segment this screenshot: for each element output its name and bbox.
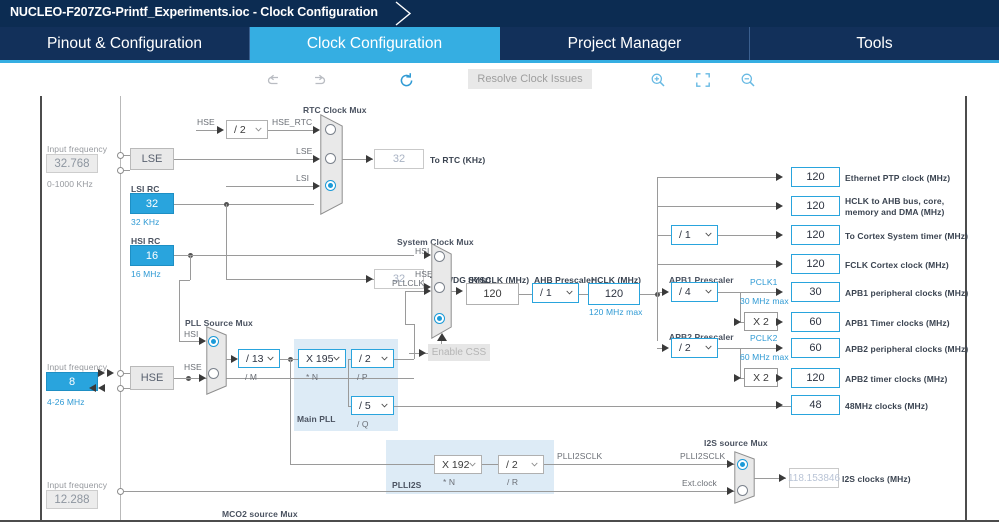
rtc-mux-option-hse-rtc[interactable]: [325, 124, 336, 135]
output-hclk-ahb-label: HCLK to AHB bus, core, memory and DMA (M…: [845, 196, 944, 218]
hse-input-range: 4-26 MHz: [47, 397, 85, 407]
arrow-out-48mhz: [776, 401, 783, 409]
arrow-out-apb2-periph: [776, 344, 783, 352]
clock-configuration-window: NUCLEO-F207ZG-Printf_Experiments.ioc - C…: [0, 0, 999, 526]
wire-lsi-down: [226, 204, 227, 279]
enable-css-button[interactable]: Enable CSS: [428, 344, 490, 361]
plli2s-r-value: / 2: [499, 459, 518, 471]
canvas-left-border: [40, 96, 42, 520]
wire-hsi-down-2: [179, 280, 180, 341]
resolve-label: Resolve Clock Issues: [477, 73, 582, 85]
hse-oscillator-box[interactable]: HSE: [130, 366, 174, 390]
rtc-lsi-label: LSI: [296, 173, 309, 183]
canvas-bottom-border: [0, 520, 999, 522]
lsi-rc-value: 32: [146, 198, 158, 210]
output-cortex-systimer-field: 120: [791, 225, 840, 245]
wire-p-jog: [405, 324, 415, 325]
pll-q-label: / Q: [357, 419, 369, 429]
pll-m-divider-combo[interactable]: / 13: [238, 349, 280, 368]
cortex-prescaler-value: / 1: [672, 229, 691, 241]
rtc-hse-label: HSE: [197, 117, 215, 127]
arrow-apb1-mul: [734, 318, 741, 326]
rtc-hse-divider-combo[interactable]: / 2: [226, 120, 268, 139]
hclk-max: 120 MHz max: [589, 307, 643, 317]
breadcrumb-chevron-icon: [394, 0, 424, 27]
wire-pclk1: [740, 292, 777, 293]
arrow-apb2-mul: [734, 374, 741, 382]
chevron-down-icon: [705, 288, 712, 295]
chevron-down-icon: [705, 231, 712, 238]
wire-sysclk-to-ahb: [519, 294, 533, 295]
plli2s-r-divider-combo[interactable]: / 2: [498, 455, 544, 474]
pll-p-value: / 2: [352, 353, 371, 365]
apb1-timer-multiplier: X 2: [744, 312, 778, 331]
wire-out-ahb: [657, 206, 777, 207]
output-apb2-peripheral-label: APB2 peripheral clocks (MHz): [845, 344, 968, 354]
cortex-systimer-prescaler-combo[interactable]: / 1: [671, 225, 718, 245]
mco2-source-mux-label: MCO2 source Mux: [222, 509, 298, 519]
arrow-sysmux-in0: [424, 251, 431, 259]
arrow-to-sysclk: [456, 287, 463, 295]
undo-icon[interactable]: [264, 70, 284, 90]
output-value: 60: [809, 316, 821, 328]
plli2s-n-value: X 192: [435, 459, 469, 471]
pll-q-divider-combo[interactable]: / 5: [351, 396, 394, 415]
pclk1-label: PCLK1: [750, 277, 777, 287]
wire-out-ethernet: [657, 177, 777, 178]
output-cortex-systimer-label: To Cortex System timer (MHz): [845, 231, 968, 241]
chevron-down-icon: [381, 402, 388, 409]
chevron-down-icon: [381, 355, 388, 362]
output-48mhz-field: 48: [791, 395, 840, 415]
lse-input-caption: Input frequency: [47, 144, 107, 154]
i2s-source-option-plli2sclk[interactable]: [737, 459, 748, 470]
arrow-hse-div2: [217, 126, 224, 134]
canvas-right-border: [965, 96, 967, 520]
title-bar: NUCLEO-F207ZG-Printf_Experiments.ioc - C…: [0, 0, 999, 27]
arrow-rtcmux-in0: [313, 126, 320, 134]
main-pll-title: Main PLL: [297, 414, 336, 424]
wire-plli2sclk: [544, 464, 735, 465]
arrow-pllmux-in0: [199, 337, 206, 345]
output-i2s-clocks-field: 118.153846: [789, 468, 839, 488]
arrow-out-apb1-timer: [776, 318, 783, 326]
output-apb1-peripheral-label: APB1 peripheral clocks (MHz): [845, 288, 968, 298]
enable-css-label: Enable CSS: [432, 347, 486, 358]
output-i2s-value: 118.153846: [788, 473, 840, 484]
output-value: 48: [809, 399, 821, 411]
pll-p-label: / P: [357, 372, 368, 382]
chevron-down-icon: [333, 355, 340, 362]
wire-hsi-jog: [179, 280, 190, 281]
wire-m-down-to-plli2s: [290, 359, 291, 464]
hse-input-value: 8: [69, 376, 75, 388]
output-ethernet-ptp-label: Ethernet PTP clock (MHz): [845, 173, 950, 183]
output-fclk-field: 120: [791, 254, 840, 274]
tab-label: Clock Configuration: [307, 35, 442, 53]
wire-n-branch-down: [348, 359, 349, 406]
fit-to-screen-icon[interactable]: [693, 70, 713, 90]
arrow-css-up: [436, 333, 448, 341]
wire-lse-to-rtcmux: [174, 159, 314, 160]
lse-connector-top: [117, 152, 124, 159]
system-clock-option-hsi[interactable]: [434, 251, 445, 262]
pll-m-value: / 13: [239, 353, 264, 365]
i2smux-plli2sclk-label: PLLI2SCLK: [680, 451, 725, 461]
chevron-down-icon: [531, 461, 538, 468]
pll-src-hsi-label: HSI: [184, 329, 198, 339]
output-value: 120: [806, 229, 824, 241]
output-value: 120: [806, 258, 824, 270]
arrow-pllmux-in1: [199, 374, 206, 382]
wire-p-out: [394, 359, 414, 360]
output-value: 60: [809, 342, 821, 354]
pclk2-label: PCLK2: [750, 333, 777, 343]
arrow-out-ahb: [776, 202, 783, 210]
wire-div2-to-rtcmux: [268, 130, 314, 131]
hse-in-arrow-1: [98, 369, 105, 377]
arrow-out-cortex: [776, 231, 783, 239]
wire-to-plli2s-n: [290, 464, 434, 465]
apb2-timer-multiplier: X 2: [744, 368, 778, 387]
tab-label: Tools: [856, 35, 892, 53]
apb1-prescaler-value: / 4: [672, 286, 691, 298]
tab-label: Pinout & Configuration: [47, 35, 202, 53]
to-rtc-value-field: 32: [374, 149, 424, 169]
system-clock-option-pllclk[interactable]: [434, 313, 445, 324]
system-clock-option-hse[interactable]: [434, 282, 445, 293]
arrow-out-ethernet: [776, 173, 783, 181]
hsi-rc-value: 16: [146, 250, 158, 262]
pllclk-label: PLLCLK: [392, 278, 424, 288]
to-rtc-label: To RTC (KHz): [430, 155, 485, 165]
arrow-i2smux-in0: [727, 460, 734, 468]
pll-p-divider-combo[interactable]: / 2: [351, 349, 394, 368]
hse-in-arrow-2: [107, 369, 114, 377]
wire-hsi-main: [174, 255, 414, 256]
output-apb1-peripheral-field: 30: [791, 282, 840, 302]
canvas-osc-divider: [120, 96, 121, 520]
zoom-out-icon[interactable]: [738, 70, 758, 90]
arrow-out-apb2-timer: [776, 374, 783, 382]
hclk-value-field: 120: [588, 283, 640, 305]
hse-connector-top: [117, 370, 124, 377]
ahb-prescaler-combo[interactable]: / 1: [532, 283, 579, 303]
lse-input-value: 32.768: [54, 158, 89, 170]
arrow-to-pll-m: [231, 355, 238, 363]
output-value: 120: [806, 200, 824, 212]
wire-plli2s-n-to-r: [482, 464, 499, 465]
hse-rtc-label: HSE_RTC: [272, 117, 312, 127]
lsi-rc-value-field[interactable]: 32: [130, 193, 174, 214]
pll-n-multiplier-combo[interactable]: X 195: [298, 349, 346, 368]
arrow-to-rtc: [366, 155, 373, 163]
arrow-apb1-prescaler: [662, 288, 669, 296]
wire-pllclk-right: [405, 291, 425, 292]
wire-pclk2: [740, 348, 777, 349]
hse-out-arrow-1: [98, 384, 105, 392]
output-apb1-timer-label: APB1 Timer clocks (MHz): [845, 318, 950, 328]
output-value: 120: [806, 171, 824, 183]
lse-input-range: 0-1000 KHz: [47, 179, 93, 189]
arrow-out-i2s: [779, 474, 786, 482]
tab-label: Project Manager: [568, 35, 682, 53]
rtc-mux-option-lsi[interactable]: [325, 180, 336, 191]
output-value: 120: [806, 372, 824, 384]
pll-source-option-hse[interactable]: [208, 368, 219, 379]
wire-cortex-pre-in: [657, 235, 672, 236]
arrow-enable-css: [419, 349, 426, 357]
apb2-max: 60 MHz max: [740, 352, 789, 362]
tab-project-manager[interactable]: Project Manager: [500, 27, 750, 60]
pll-m-label: / M: [245, 372, 257, 382]
wire-pllclk-up: [405, 291, 406, 324]
to-rtc-value: 32: [393, 153, 405, 165]
i2s-input-frequency-field[interactable]: 12.288: [46, 490, 98, 509]
wire-lsi-to-iwdg: [226, 279, 376, 280]
wire-cortex-pre-out: [718, 235, 777, 236]
arrow-to-iwdg: [366, 275, 373, 283]
hclk-value: 120: [605, 288, 623, 300]
sysclk-value: 120: [483, 288, 501, 300]
i2s-input-caption: Input frequency: [47, 480, 107, 490]
sysclk-value-field: 120: [466, 283, 519, 305]
pll-q-value: / 5: [352, 400, 371, 412]
chevron-down-icon: [469, 461, 476, 468]
output-apb2-timer-field: 120: [791, 368, 840, 388]
pll-n-label: * N: [306, 372, 318, 382]
rtc-mux-option-lse[interactable]: [325, 153, 336, 164]
output-ethernet-ptp-field: 120: [791, 167, 840, 187]
hse-out-arrow-2: [89, 384, 96, 392]
reset-icon[interactable]: [396, 70, 416, 90]
output-48mhz-label: 48MHz clocks (MHz): [845, 401, 928, 411]
apb2-multiplier-value: X 2: [753, 372, 769, 384]
chevron-down-icon: [566, 289, 573, 296]
resolve-clock-issues-button[interactable]: Resolve Clock Issues: [468, 69, 592, 89]
apb1-prescaler-combo[interactable]: / 4: [671, 282, 718, 302]
arrow-sysmux-in1: [424, 283, 431, 291]
main-tab-bar: Pinout & Configuration Clock Configurati…: [0, 27, 999, 63]
plli2s-n-multiplier-combo[interactable]: X 192: [434, 455, 482, 474]
wire-hsi-down-1: [190, 255, 191, 280]
i2s-ext-connector: [117, 488, 124, 495]
output-fclk-label: FCLK Cortex clock (MHz): [845, 260, 949, 270]
plli2s-r-label: / R: [507, 477, 518, 487]
hse-label: HSE: [141, 372, 164, 384]
apb1-max: 30 MHz max: [740, 296, 789, 306]
wire-hse-to-div2: [196, 130, 218, 131]
chevron-down-icon: [255, 126, 262, 133]
wire-hclk-bus-down: [657, 294, 658, 341]
i2s-input-value: 12.288: [54, 494, 89, 506]
output-value: 30: [809, 286, 821, 298]
output-apb1-timer-field: 60: [791, 312, 840, 332]
lsi-rc-unit: 32 KHz: [131, 217, 159, 227]
wire-lsi-main: [174, 204, 314, 205]
lse-connector-bottom: [117, 167, 124, 174]
window-title: NUCLEO-F207ZG-Printf_Experiments.ioc - C…: [10, 5, 378, 19]
ahb-prescaler-value: / 1: [533, 287, 552, 299]
i2s-source-mux-title: I2S source Mux: [704, 438, 768, 448]
wire-q-to-48mhz: [394, 406, 796, 407]
arrow-out-fclk: [776, 260, 783, 268]
wire-apb2-out: [718, 348, 740, 349]
clock-tree-canvas: Input frequency 32.768 0-1000 KHz Input …: [0, 96, 999, 526]
plli2s-n-label: * N: [443, 477, 455, 487]
zoom-in-icon[interactable]: [648, 70, 668, 90]
wire-lsi-to-rtcmux: [226, 186, 314, 187]
output-hclk-ahb-field: 120: [791, 196, 840, 216]
rtc-divider-value: / 2: [227, 124, 246, 136]
lse-oscillator-box[interactable]: LSE: [130, 148, 174, 170]
wire-apb1-out: [718, 292, 740, 293]
lse-label: LSE: [142, 153, 163, 165]
tab-clock-configuration[interactable]: Clock Configuration: [250, 27, 500, 60]
hse-connector-bottom: [117, 385, 124, 392]
arrow-rtcmux-in1: [313, 155, 320, 163]
plli2sclk-out-label: PLLI2SCLK: [557, 451, 602, 461]
apb2-prescaler-combo[interactable]: / 2: [671, 338, 718, 358]
wire-out-fclk: [657, 264, 777, 265]
rtc-lse-label: LSE: [296, 146, 312, 156]
arrow-i2smux-in1: [727, 487, 734, 495]
wire-ext-clock: [124, 491, 735, 492]
ext-clock-label: Ext.clock: [682, 478, 717, 488]
i2s-source-option-ext-clock[interactable]: [737, 485, 748, 496]
hsi-rc-unit: 16 MHz: [131, 269, 161, 279]
arrow-apb2-prescaler: [662, 344, 669, 352]
pll-n-value: X 195: [299, 353, 333, 365]
redo-icon[interactable]: [309, 70, 329, 90]
pll-src-hse-label: HSE: [184, 362, 202, 372]
arrow-out-apb1-periph: [776, 288, 783, 296]
tab-pinout-configuration[interactable]: Pinout & Configuration: [0, 27, 250, 60]
output-apb2-timer-label: APB2 timer clocks (MHz): [845, 374, 947, 384]
lse-input-frequency-field[interactable]: 32.768: [46, 154, 98, 173]
output-i2s-clocks-label: I2S clocks (MHz): [842, 474, 911, 484]
chevron-down-icon: [705, 344, 712, 351]
plli2s-title: PLLI2S: [392, 480, 421, 490]
pll-source-option-hsi[interactable]: [208, 336, 219, 347]
apb2-prescaler-value: / 2: [672, 342, 691, 354]
wire-lse-conn-bottom: [124, 170, 130, 171]
arrow-rtcmux-in2: [313, 182, 320, 190]
apb1-multiplier-value: X 2: [753, 316, 769, 328]
tab-tools[interactable]: Tools: [750, 27, 999, 60]
output-apb2-peripheral-field: 60: [791, 338, 840, 358]
chevron-down-icon: [267, 355, 274, 362]
hsi-rc-value-field[interactable]: 16: [130, 245, 174, 266]
